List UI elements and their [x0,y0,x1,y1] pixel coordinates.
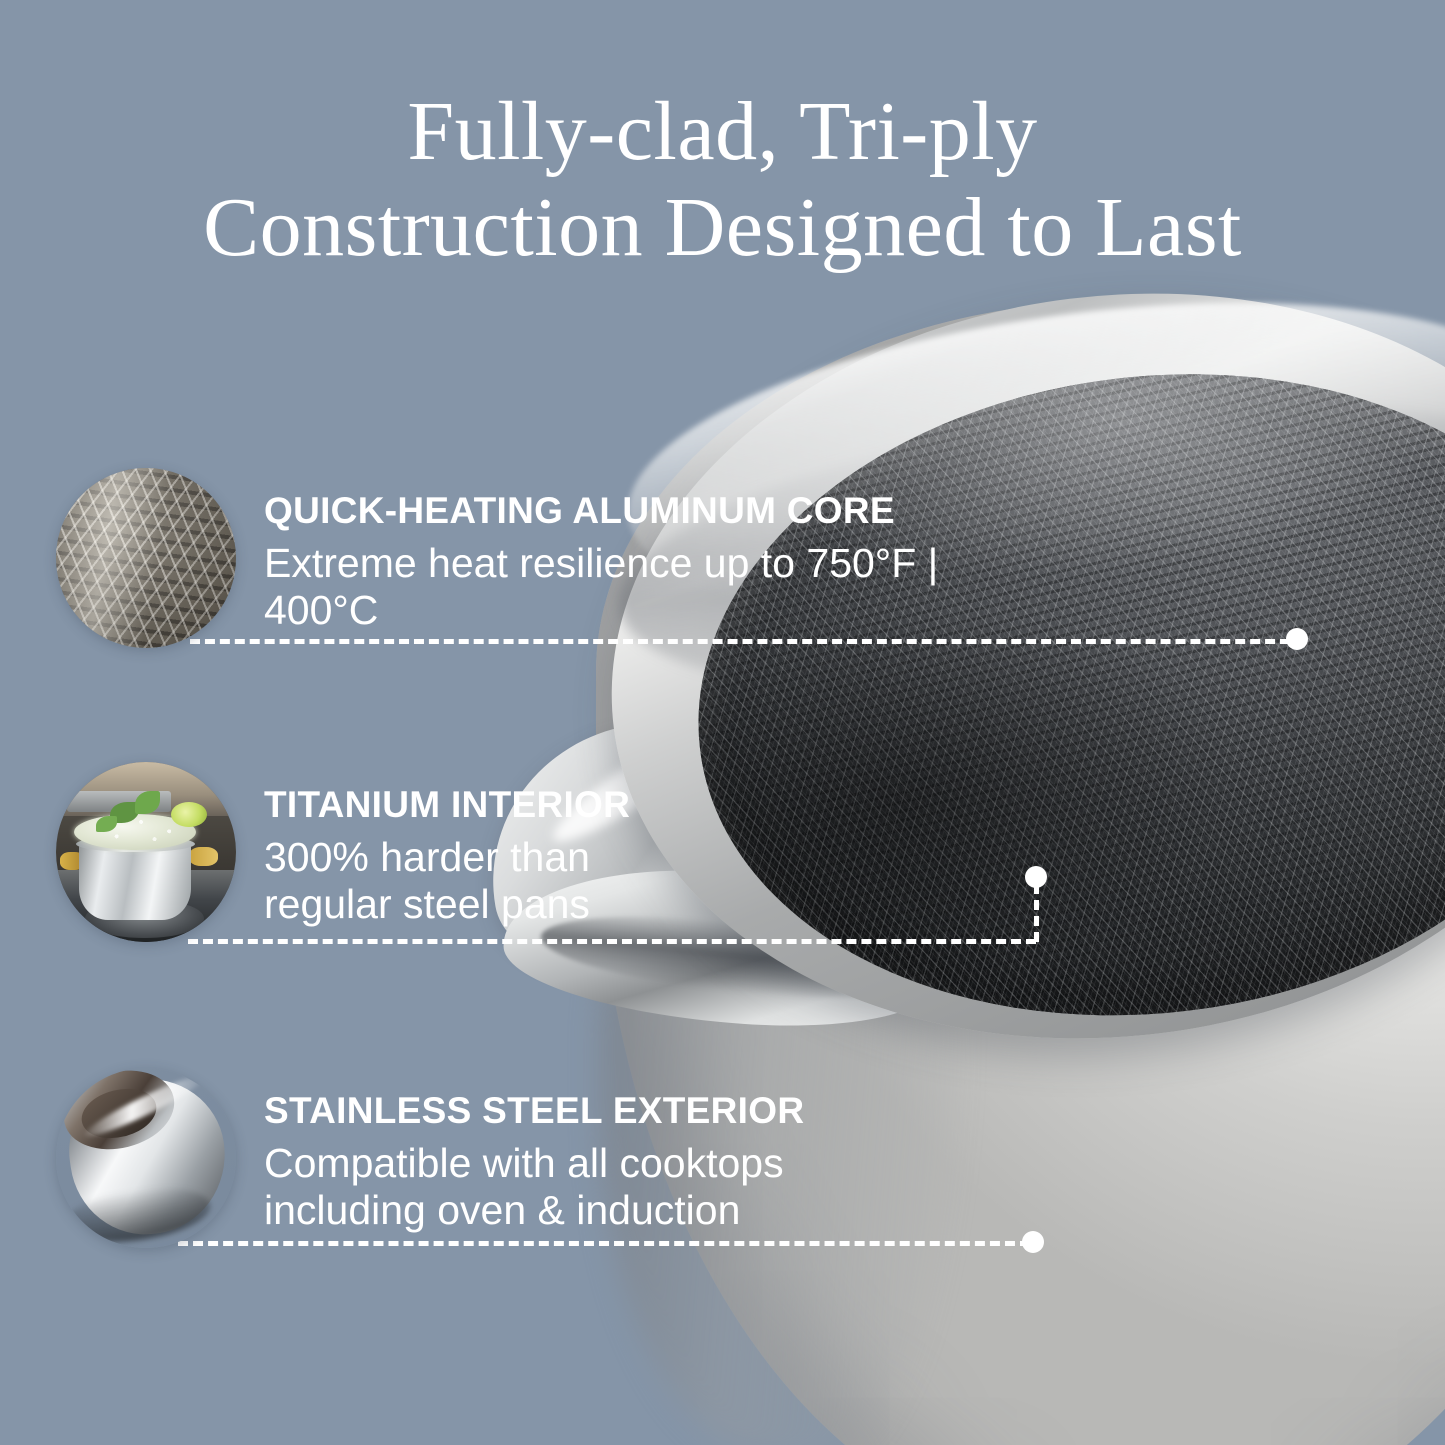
callout-line-vertical [1034,884,1039,942]
callout-endpoint-dot [1022,1231,1044,1253]
steel-pot-photo-icon [56,1068,236,1248]
callout-line-horizontal [190,639,1290,644]
thumbnail-pot-of-rice-on-stove [56,762,236,942]
mini-pot-body [79,841,191,920]
page-title: Fully-clad, Tri-ply Construction Designe… [0,84,1445,276]
callout-line-horizontal [188,939,1036,944]
callout-line-horizontal [178,1241,1030,1246]
thumbnail-honeycomb-metal-texture [56,468,236,648]
feature-heading: TITANIUM INTERIOR [264,784,630,826]
callout-endpoint-dot [1286,628,1308,650]
feature-subtext: Compatible with all cooktops including o… [264,1140,784,1233]
pot-handle-right [189,847,218,867]
feature-heading: STAINLESS STEEL EXTERIOR [264,1090,804,1132]
feature-heading: QUICK-HEATING ALUMINUM CORE [264,490,895,532]
rice-pot-photo-icon [56,762,236,942]
thumbnail-polished-steel-pot-base [56,1068,236,1248]
thumbnail-sheen [56,468,236,648]
feature-subtext: 300% harder than regular steel pans [264,834,590,927]
product-feature-infographic: Fully-clad, Tri-ply Construction Designe… [0,0,1445,1445]
interior-sheen [661,324,1445,1066]
lime-wedge [171,802,207,827]
feature-subtext: Extreme heat resilience up to 750°F | 40… [264,540,1056,633]
callout-endpoint-dot [1025,866,1047,888]
pot-hex-textured-interior [661,324,1445,1066]
